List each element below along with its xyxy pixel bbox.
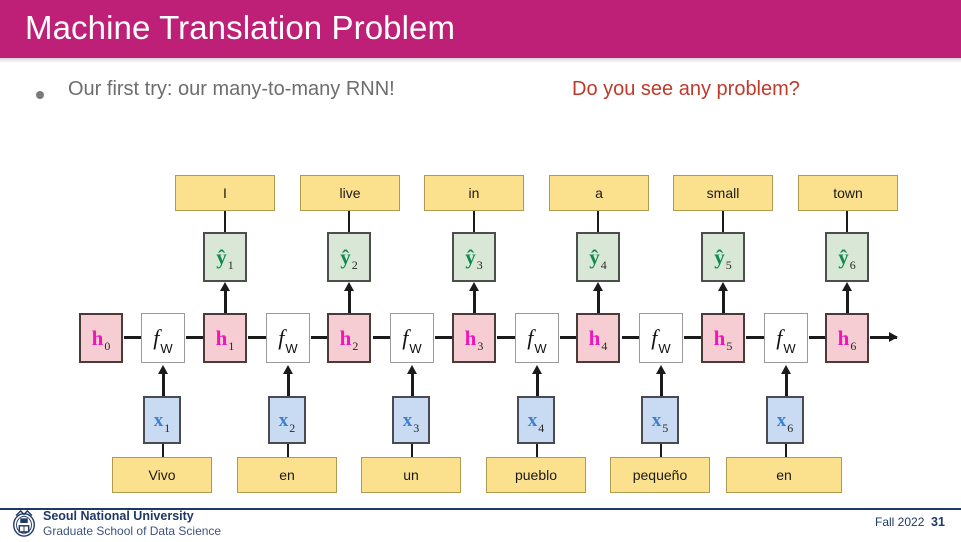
output-node-symbol: ŷ (216, 247, 227, 268)
connector-line (411, 444, 413, 458)
input-node: x5 (641, 396, 679, 444)
input-word-label: pequeño (633, 467, 688, 483)
input-node-subscript: 5 (662, 421, 668, 436)
output-word-box: a (549, 175, 649, 211)
up-arrow (411, 373, 414, 397)
output-node-symbol: ŷ (465, 247, 476, 268)
output-word-box: live (300, 175, 400, 211)
output-node-subscript: 2 (352, 258, 358, 273)
up-arrow (597, 290, 600, 314)
output-node-symbol: ŷ (838, 247, 849, 268)
input-node: x1 (143, 396, 181, 444)
rnn-cell-symbol: f (278, 327, 284, 349)
hidden-state-symbol: h (340, 328, 352, 349)
output-node-subscript: 6 (850, 258, 856, 273)
hidden-state-symbol: h (216, 328, 228, 349)
output-node-symbol: ŷ (714, 247, 725, 268)
hidden-state-node: h0 (79, 313, 123, 363)
input-node-symbol: x (279, 411, 289, 430)
rnn-cell-symbol: f (153, 327, 159, 349)
up-arrow (224, 290, 227, 314)
input-node-subscript: 6 (787, 421, 793, 436)
input-node-subscript: 3 (413, 421, 419, 436)
output-word-box: town (798, 175, 898, 211)
chain-arrow-terminal (870, 336, 897, 339)
hidden-state-node: h6 (825, 313, 869, 363)
output-node: ŷ5 (701, 232, 745, 282)
hidden-state-subscript: 1 (228, 339, 234, 354)
output-node-subscript: 5 (726, 258, 732, 273)
up-arrow (536, 373, 539, 397)
output-node-subscript: 3 (477, 258, 483, 273)
output-node-symbol: ŷ (589, 247, 600, 268)
output-node: ŷ4 (576, 232, 620, 282)
output-node: ŷ1 (203, 232, 247, 282)
input-word-box: pequeño (610, 457, 710, 493)
input-word-box: en (237, 457, 337, 493)
input-word-label: Vivo (149, 467, 176, 483)
footer-page-number: 31 (931, 515, 945, 529)
output-node-subscript: 4 (601, 258, 607, 273)
rnn-cell-subscript: W (534, 341, 546, 356)
hidden-state-node: h5 (701, 313, 745, 363)
connector-line (846, 211, 848, 233)
input-node: x6 (766, 396, 804, 444)
footer-term: Fall 2022 (875, 515, 924, 529)
input-node-symbol: x (154, 411, 164, 430)
hidden-state-subscript: 0 (104, 339, 110, 354)
connector-line (722, 211, 724, 233)
up-arrow (348, 290, 351, 314)
input-node: x3 (392, 396, 430, 444)
rnn-cell-node: fW (266, 313, 310, 363)
hidden-state-node: h2 (327, 313, 371, 363)
output-node-symbol: ŷ (340, 247, 351, 268)
rnn-cell-subscript: W (783, 341, 795, 356)
input-node-symbol: x (777, 411, 787, 430)
up-arrow (162, 373, 165, 397)
input-word-label: en (279, 467, 295, 483)
output-word-label: town (833, 185, 863, 201)
input-node-subscript: 4 (538, 421, 544, 436)
connector-line (660, 444, 662, 458)
rnn-cell-symbol: f (402, 327, 408, 349)
up-arrow (473, 290, 476, 314)
hidden-state-node: h1 (203, 313, 247, 363)
input-word-label: un (403, 467, 419, 483)
rnn-cell-node: fW (141, 313, 185, 363)
connector-line (162, 444, 164, 458)
connector-line (536, 444, 538, 458)
output-node: ŷ3 (452, 232, 496, 282)
hidden-state-subscript: 6 (850, 339, 856, 354)
input-node-subscript: 1 (164, 421, 170, 436)
output-node-subscript: 1 (228, 258, 234, 273)
hidden-state-symbol: h (714, 328, 726, 349)
slide: Machine Translation Problem Our first tr… (0, 0, 961, 542)
connector-line (287, 444, 289, 458)
rnn-cell-node: fW (390, 313, 434, 363)
hidden-state-subscript: 4 (601, 339, 607, 354)
input-node-symbol: x (652, 411, 662, 430)
hidden-state-symbol: h (838, 328, 850, 349)
output-word-box: I (175, 175, 275, 211)
hidden-state-symbol: h (589, 328, 601, 349)
input-node: x4 (517, 396, 555, 444)
output-word-label: live (339, 185, 360, 201)
rnn-cell-subscript: W (409, 341, 421, 356)
hidden-state-subscript: 3 (477, 339, 483, 354)
rnn-cell-symbol: f (527, 327, 533, 349)
input-node: x2 (268, 396, 306, 444)
hidden-state-symbol: h (465, 328, 477, 349)
output-word-label: I (223, 185, 227, 201)
input-word-label: en (776, 467, 792, 483)
rnn-diagram: I live in a small town ŷ1 ŷ2 ŷ3 ŷ4 ŷ5 ŷ6 (0, 0, 961, 542)
up-arrow (722, 290, 725, 314)
rnn-cell-subscript: W (285, 341, 297, 356)
output-word-label: a (595, 185, 603, 201)
up-arrow (287, 373, 290, 397)
output-node: ŷ6 (825, 232, 869, 282)
hidden-state-node: h3 (452, 313, 496, 363)
input-node-symbol: x (528, 411, 538, 430)
snu-logo-icon (10, 508, 38, 538)
rnn-cell-symbol: f (776, 327, 782, 349)
input-word-box: pueblo (486, 457, 586, 493)
output-word-box: in (424, 175, 524, 211)
output-word-label: in (469, 185, 480, 201)
rnn-cell-subscript: W (658, 341, 670, 356)
input-word-label: pueblo (515, 467, 557, 483)
connector-line (348, 211, 350, 233)
rnn-cell-symbol: f (651, 327, 657, 349)
input-node-symbol: x (403, 411, 413, 430)
hidden-state-subscript: 2 (352, 339, 358, 354)
up-arrow (785, 373, 788, 397)
hidden-state-symbol: h (92, 328, 104, 349)
hidden-state-subscript: 5 (726, 339, 732, 354)
output-word-label: small (707, 185, 740, 201)
input-node-subscript: 2 (289, 421, 295, 436)
input-word-box: Vivo (112, 457, 212, 493)
rnn-cell-subscript: W (160, 341, 172, 356)
rnn-cell-node: fW (764, 313, 808, 363)
connector-line (473, 211, 475, 233)
rnn-cell-node: fW (515, 313, 559, 363)
connector-line (597, 211, 599, 233)
connector-line (785, 444, 787, 458)
input-word-box: un (361, 457, 461, 493)
output-node: ŷ2 (327, 232, 371, 282)
input-word-box: en (726, 457, 842, 493)
output-word-box: small (673, 175, 773, 211)
rnn-cell-node: fW (639, 313, 683, 363)
footer-department: Graduate School of Data Science (43, 524, 221, 538)
up-arrow (660, 373, 663, 397)
hidden-state-node: h4 (576, 313, 620, 363)
footer-university: Seoul National University (43, 509, 194, 523)
connector-line (224, 211, 226, 233)
up-arrow (846, 290, 849, 314)
